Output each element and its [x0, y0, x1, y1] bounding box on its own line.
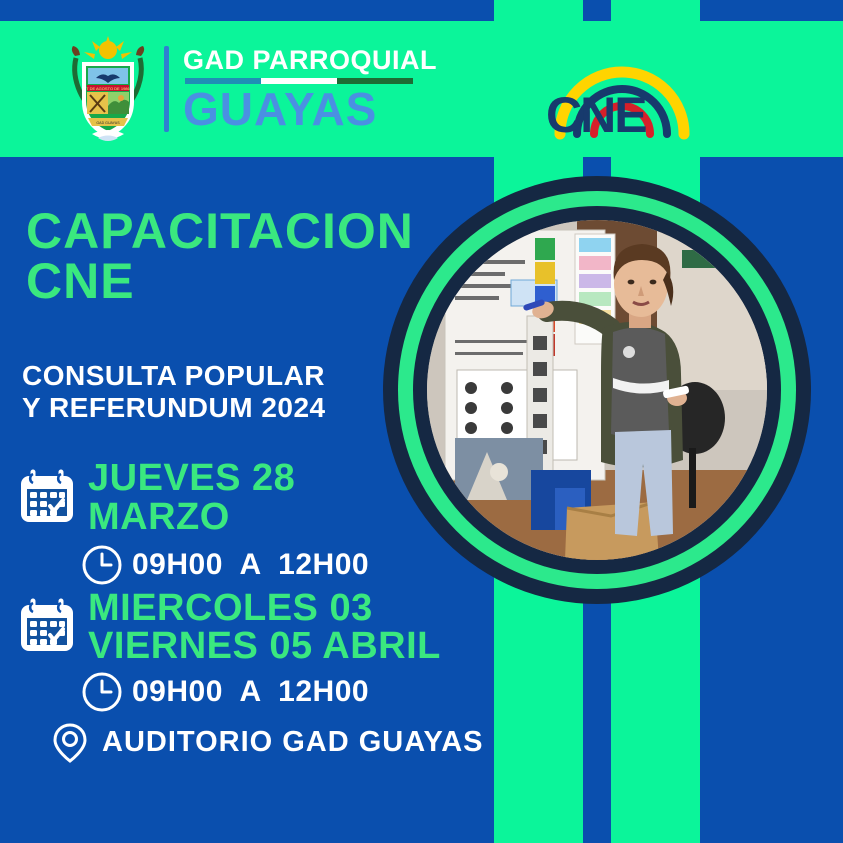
- schedule-date-2-line1: MIERCOLES 03: [88, 589, 441, 628]
- header-band: 7 DE AGOSTO DE 1986 GAD GUAYAS: [0, 21, 843, 157]
- schedule-date-row-2: MIERCOLES 03 VIERNES 05 ABRIL: [0, 589, 500, 667]
- logo-divider: [164, 46, 169, 132]
- gad-line1: GAD PARROQUIAL: [183, 47, 437, 74]
- schedule-time-row-2: 09H00 A 12H00: [0, 670, 500, 714]
- location-pin-icon: [48, 720, 92, 764]
- schedule-date-row-1: JUEVES 28 MARZO: [0, 459, 500, 537]
- title-line-2: CNE: [26, 256, 414, 306]
- location-row: AUDITORIO GAD GUAYAS: [0, 720, 500, 764]
- gad-wordmark: GAD PARROQUIAL GUAYAS: [183, 47, 437, 132]
- schedule-date-1-line1: JUEVES 28: [88, 459, 295, 498]
- schedule-info: JUEVES 28 MARZO 09H00 A 12H00: [0, 455, 500, 764]
- location-venue: AUDITORIO GAD GUAYAS: [102, 726, 484, 759]
- subtitle-line-1: CONSULTA POPULAR: [22, 360, 326, 392]
- calendar-check-icon: [18, 469, 76, 527]
- clock-icon: [80, 670, 124, 714]
- schedule-date-2-line2: VIERNES 05 ABRIL: [88, 627, 441, 666]
- page-subtitle: CONSULTA POPULAR Y REFERUNDUM 2024: [22, 360, 326, 424]
- schedule-date-1-line2: MARZO: [88, 498, 295, 537]
- subtitle-line-2: Y REFERUNDUM 2024: [22, 392, 326, 424]
- schedule-date-2: MIERCOLES 03 VIERNES 05 ABRIL: [88, 589, 441, 667]
- page-title: CAPACITACION CNE: [26, 206, 414, 306]
- schedule-date-1: JUEVES 28 MARZO: [88, 459, 295, 537]
- clock-icon: [80, 543, 124, 587]
- gad-line2: GUAYAS: [183, 86, 437, 132]
- schedule-time-1: 09H00 A 12H00: [132, 548, 369, 582]
- guayas-coat-of-arms-icon: 7 DE AGOSTO DE 1986 GAD GUAYAS: [62, 34, 154, 144]
- cne-wordmark: CNE: [546, 90, 646, 140]
- title-line-1: CAPACITACION: [26, 206, 414, 256]
- schedule-time-2: 09H00 A 12H00: [132, 675, 369, 709]
- gad-parroquial-logo: 7 DE AGOSTO DE 1986 GAD GUAYAS: [62, 34, 437, 144]
- calendar-check-icon: [18, 598, 76, 656]
- svg-text:7 DE AGOSTO DE 1986: 7 DE AGOSTO DE 1986: [86, 86, 130, 91]
- cne-logo: CNE: [542, 34, 722, 144]
- schedule-time-row-1: 09H00 A 12H00: [0, 543, 500, 587]
- svg-text:GAD GUAYAS: GAD GUAYAS: [96, 121, 120, 125]
